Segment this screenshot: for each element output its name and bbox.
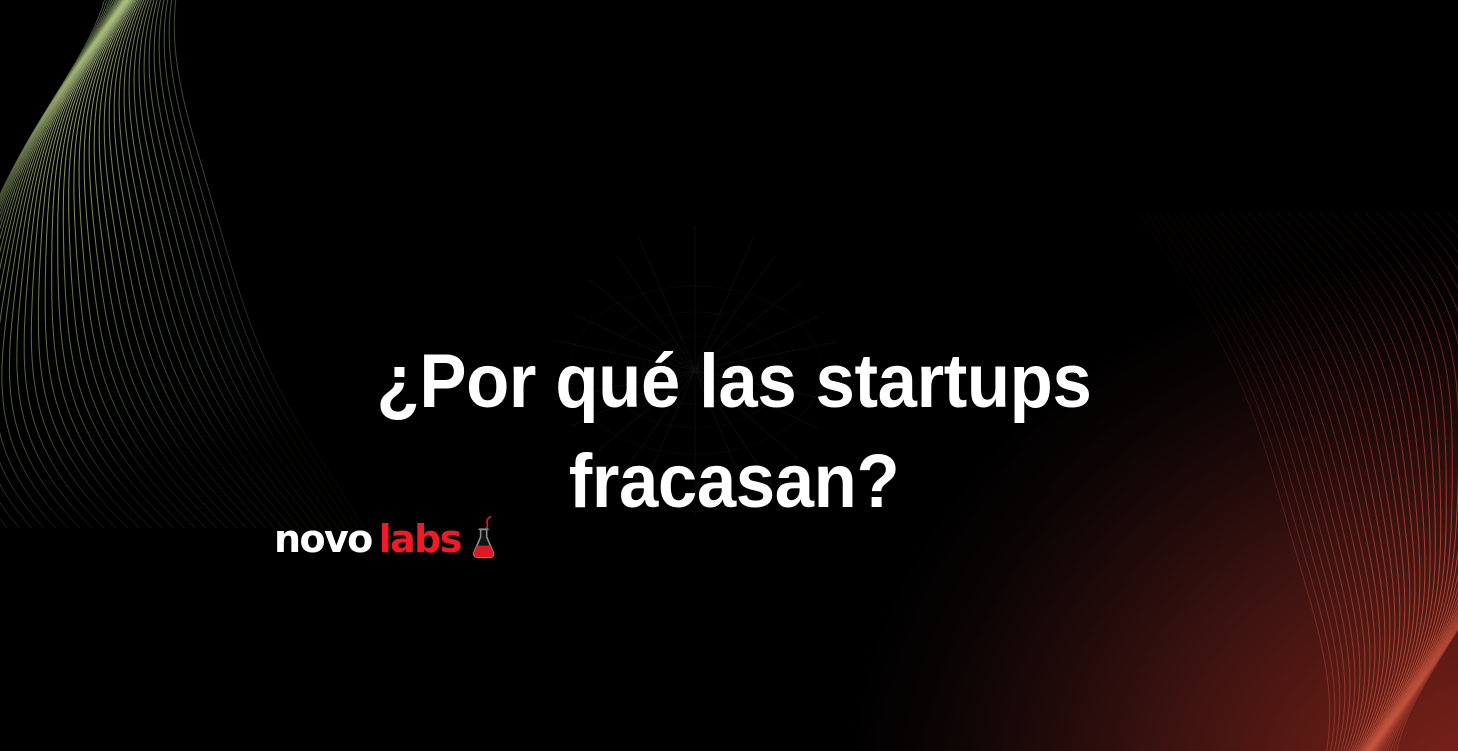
novolabs-logo[interactable]: novolabs [274, 516, 499, 562]
flask-icon [469, 516, 499, 560]
logo-word-labs: labs [379, 520, 461, 558]
slide-headline: ¿Por qué las startups fracasan? [364, 332, 1104, 533]
title-slide: ¿Por qué las startups fracasan? novolabs [0, 0, 1458, 751]
logo-word-novo: novo [274, 520, 372, 558]
